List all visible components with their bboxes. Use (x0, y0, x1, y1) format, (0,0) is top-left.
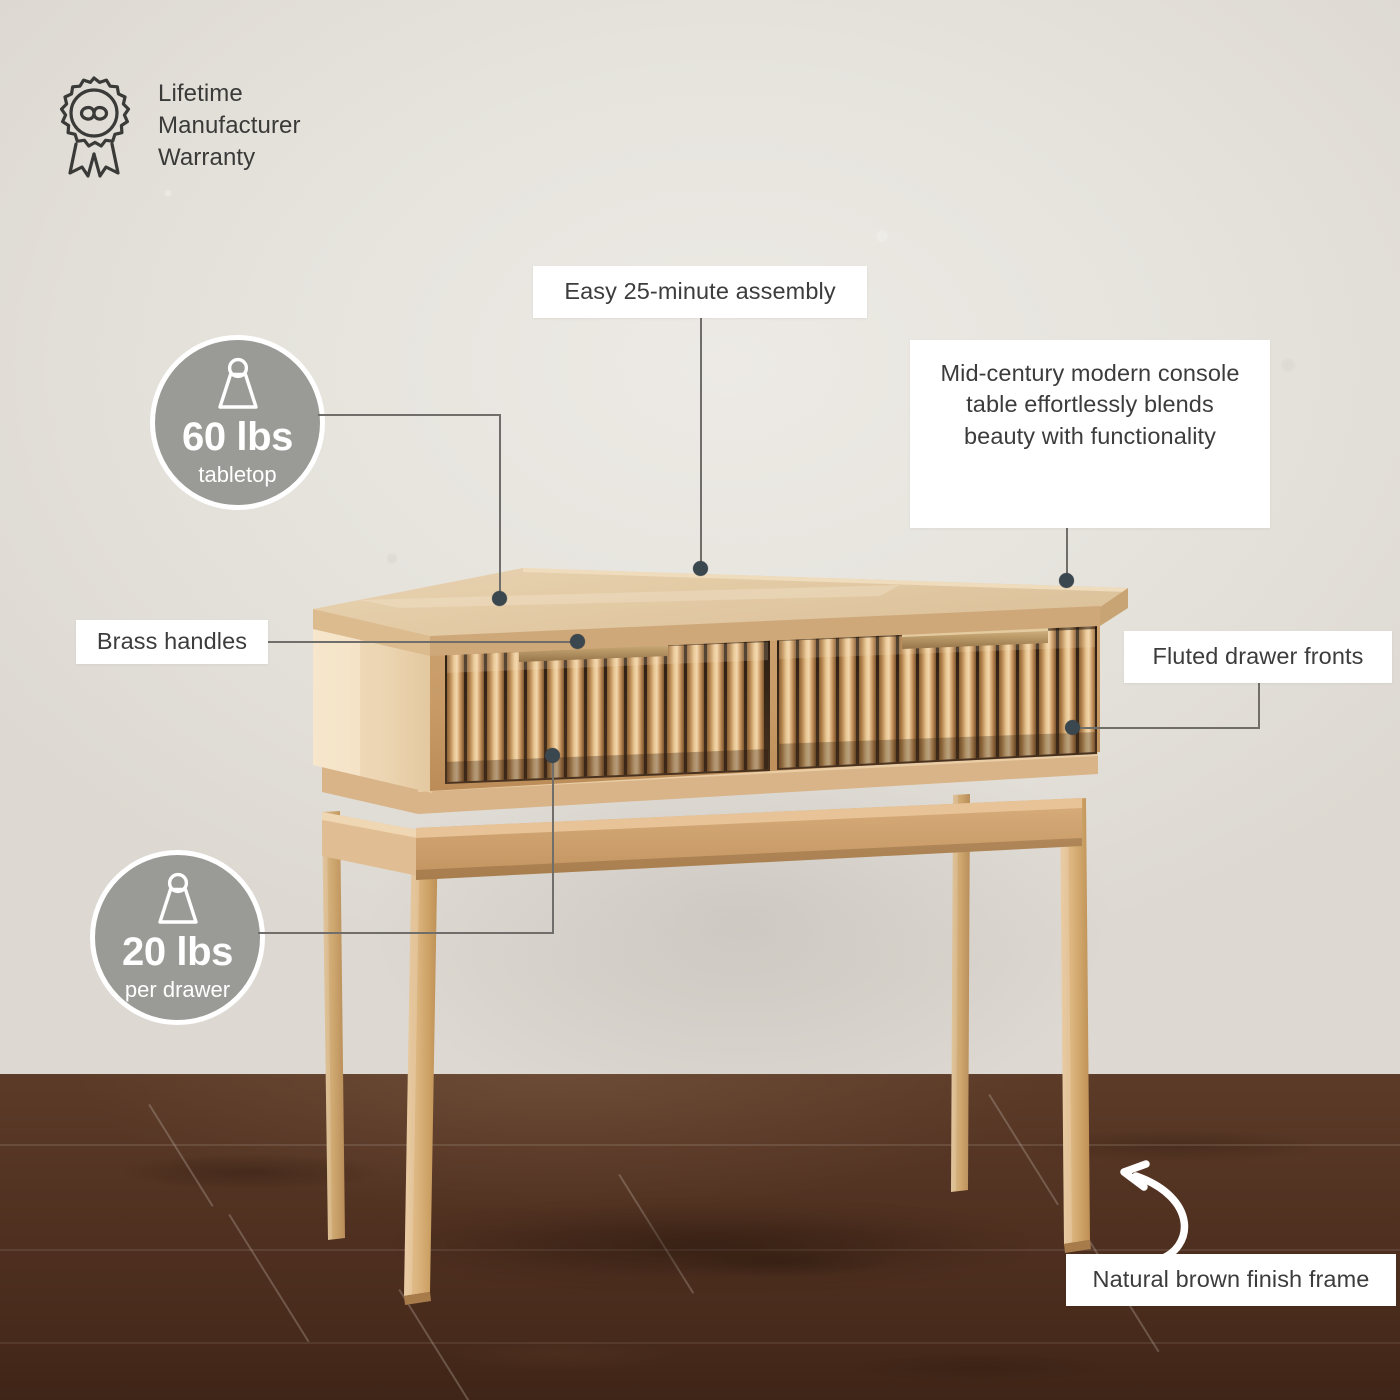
callout-natural-finish[interactable]: Natural brown finish frame (1066, 1254, 1396, 1306)
leader-line-drawer-capacity (258, 932, 554, 934)
weight-badge-caption: tabletop (198, 463, 276, 487)
weight-badge-tabletop: 60 lbs tabletop (150, 335, 325, 510)
weight-badge-value: 20 lbs (122, 932, 233, 972)
callout-brass-handles-text: Brass handles (97, 626, 247, 657)
weight-badge-drawer: 20 lbs per drawer (90, 850, 265, 1025)
weight-icon (147, 872, 209, 928)
leader-line-tabletop-capacity (499, 414, 501, 598)
table-apron-front (416, 798, 1082, 880)
table-leg-back-right (951, 794, 970, 1192)
leader-dot-drawer-capacity (545, 748, 560, 763)
leader-line-tabletop-capacity (318, 414, 501, 416)
callout-mid-century-text: Mid-century modern console table effortl… (940, 360, 1239, 449)
warranty-badge-text: Lifetime Manufacturer Warranty (158, 78, 301, 173)
leader-line-drawer-capacity (552, 755, 554, 933)
leader-dot-mid-century (1059, 573, 1074, 588)
warranty-seal-infinity-icon (48, 72, 140, 180)
leader-dot-fluted-fronts (1065, 720, 1080, 735)
weight-badge-caption: per drawer (125, 978, 230, 1002)
table-leg-back-left (322, 811, 345, 1240)
leader-line-fluted-fronts (1258, 683, 1260, 728)
callout-natural-finish-text: Natural brown finish frame (1093, 1264, 1370, 1295)
callout-brass-handles[interactable]: Brass handles (76, 620, 268, 664)
callout-fluted-fronts[interactable]: Fluted drawer fronts (1124, 631, 1392, 683)
leader-line-brass-handles (268, 641, 580, 643)
table-leg-front-right (1060, 798, 1091, 1253)
table-leg-front-left (404, 828, 438, 1305)
weight-badge-value: 60 lbs (182, 417, 293, 457)
callout-fluted-fronts-text: Fluted drawer fronts (1153, 641, 1364, 672)
leader-line-fluted-fronts (1072, 727, 1260, 729)
warranty-badge: Lifetime Manufacturer Warranty (48, 72, 301, 180)
callout-assembly[interactable]: Easy 25-minute assembly (533, 266, 867, 318)
product-infographic-scene: Lifetime Manufacturer Warranty 60 lbs ta… (0, 0, 1400, 1400)
leader-dot-assembly (693, 561, 708, 576)
curved-arrow-icon (1100, 1140, 1230, 1270)
leader-dot-brass-handles (570, 634, 585, 649)
leader-line-assembly (700, 318, 702, 567)
leader-dot-tabletop-capacity (492, 591, 507, 606)
callout-assembly-text: Easy 25-minute assembly (564, 276, 835, 307)
callout-mid-century[interactable]: Mid-century modern console table effortl… (910, 340, 1270, 528)
weight-icon (207, 357, 269, 413)
